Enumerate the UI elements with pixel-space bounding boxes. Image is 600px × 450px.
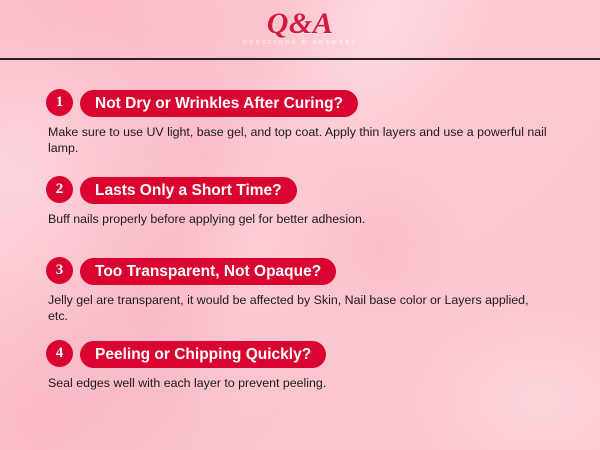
qa-question-row-4: 4 Peeling or Chipping Quickly? — [0, 340, 600, 368]
qa-question-pill-2: Lasts Only a Short Time? — [80, 177, 297, 204]
qa-question-row-2: 2 Lasts Only a Short Time? — [0, 176, 600, 204]
qa-number-badge-4: 4 — [46, 340, 73, 367]
qa-logo-subtitle: QUESTIONS & ANSWERS — [0, 40, 600, 46]
page-header: Q&A QUESTIONS & ANSWERS — [0, 0, 600, 59]
qa-answer-4: Seal edges well with each layer to preve… — [48, 375, 548, 391]
qa-question-row-1: 1 Not Dry or Wrinkles After Curing? — [0, 89, 600, 117]
qa-infographic: Q&A QUESTIONS & ANSWERS 1 Not Dry or Wri… — [0, 0, 600, 450]
qa-answer-3: Jelly gel are transparent, it would be a… — [48, 292, 548, 324]
header-divider — [0, 58, 600, 60]
qa-item-4: 4 Peeling or Chipping Quickly? Seal edge… — [0, 340, 600, 391]
qa-number-badge-2: 2 — [46, 176, 73, 203]
qa-number-badge-1: 1 — [46, 89, 73, 116]
qa-item-3: 3 Too Transparent, Not Opaque? Jelly gel… — [0, 257, 600, 324]
qa-question-pill-3: Too Transparent, Not Opaque? — [80, 258, 336, 285]
qa-item-2: 2 Lasts Only a Short Time? Buff nails pr… — [0, 176, 600, 227]
qa-answer-1: Make sure to use UV light, base gel, and… — [48, 124, 548, 156]
qa-question-pill-4: Peeling or Chipping Quickly? — [80, 341, 326, 368]
qa-number-badge-3: 3 — [46, 257, 73, 284]
qa-answer-2: Buff nails properly before applying gel … — [48, 211, 548, 227]
qa-logo-title: Q&A — [0, 9, 600, 39]
qa-item-1: 1 Not Dry or Wrinkles After Curing? Make… — [0, 89, 600, 156]
qa-question-row-3: 3 Too Transparent, Not Opaque? — [0, 257, 600, 285]
qa-question-pill-1: Not Dry or Wrinkles After Curing? — [80, 90, 358, 117]
qa-logo: Q&A QUESTIONS & ANSWERS — [0, 9, 600, 46]
